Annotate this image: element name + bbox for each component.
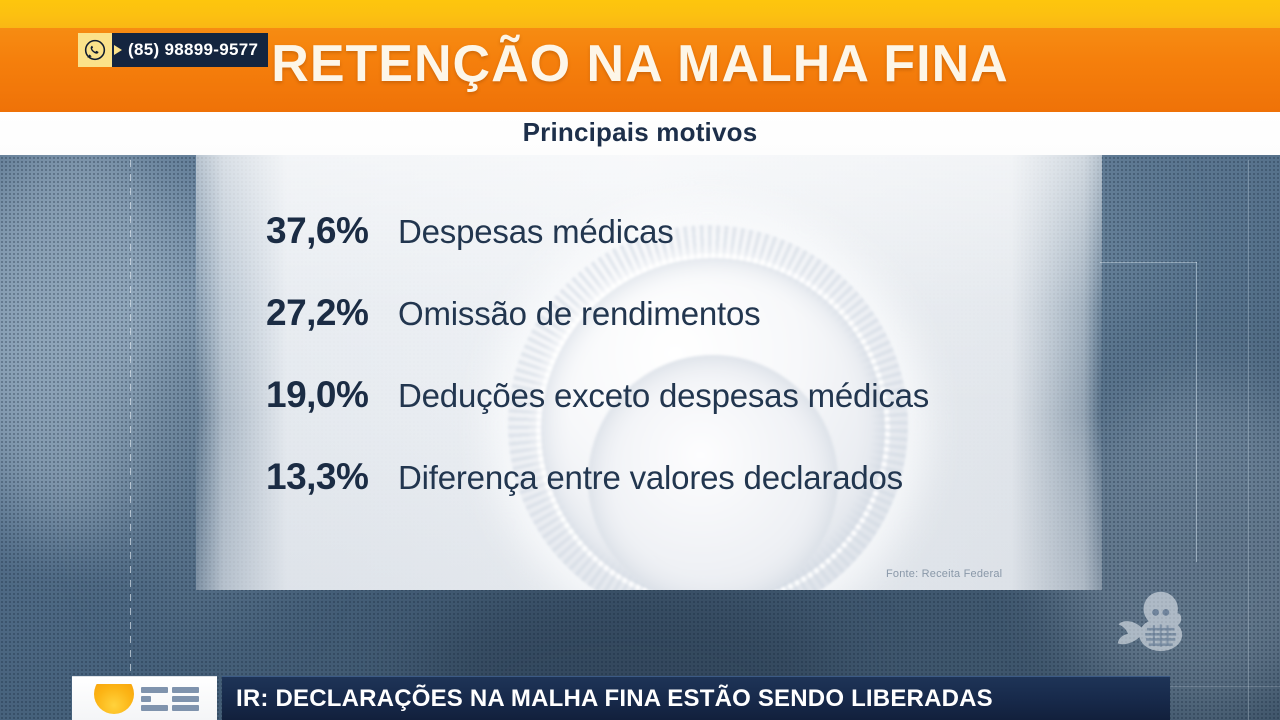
stat-value: 37,6% [266,210,398,252]
whatsapp-icon [78,33,112,67]
whatsapp-contact-pill: (85) 98899-9577 [78,33,268,67]
headline-text: IR: DECLARAÇÕES NA MALHA FINA ESTÃO SEND… [236,685,993,713]
list-item: 13,3% Diferença entre valores declarados [266,456,1086,538]
lower-third-text-column: IR: DECLARAÇÕES NA MALHA FINA ESTÃO SEND… [222,676,1170,720]
page-subtitle: Principais motivos [0,117,1280,148]
list-item: 19,0% Deduções exceto despesas médicas [266,374,1086,456]
banner-gold-strip [0,0,1280,28]
stat-label: Despesas médicas [398,213,674,251]
stat-value: 19,0% [266,374,398,416]
stat-label: Omissão de rendimentos [398,295,760,333]
ce-letters-icon [141,687,199,711]
whatsapp-number-box: (85) 98899-9577 [112,33,268,67]
stat-value: 13,3% [266,456,398,498]
letter-e-icon [172,687,199,711]
channel-logo [72,676,217,720]
headline-bar: IR: DECLARAÇÕES NA MALHA FINA ESTÃO SEND… [222,676,1170,720]
stat-label: Deduções exceto despesas médicas [398,377,929,415]
stat-label: Diferença entre valores declarados [398,459,903,497]
list-item: 37,6% Despesas médicas [266,210,1086,292]
chart-source-note: Fonte: Receita Federal [886,568,1002,580]
stat-value: 27,2% [266,292,398,334]
statistics-list: 37,6% Despesas médicas 27,2% Omissão de … [266,210,1086,538]
list-item: 27,2% Omissão de rendimentos [266,292,1086,374]
letter-c-icon [141,687,168,711]
sun-icon [91,684,137,714]
channel-logo-column: 08:18 [72,676,217,720]
whatsapp-number: (85) 98899-9577 [128,40,258,60]
